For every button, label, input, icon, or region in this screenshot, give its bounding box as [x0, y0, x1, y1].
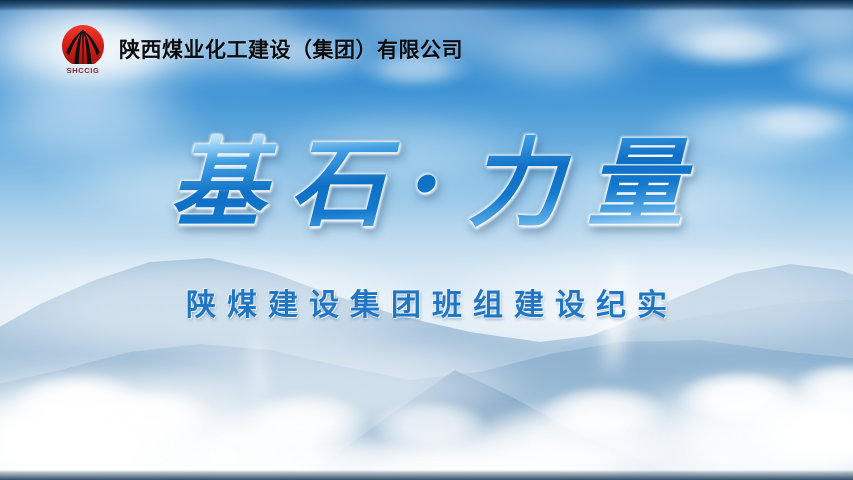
- brand-lockup: SHCCIG 陕西煤业化工建设（集团）有限公司: [60, 24, 463, 74]
- mountain-range: [0, 220, 853, 480]
- logo-mark-svg: [60, 24, 106, 66]
- shccig-flame-logo-icon: SHCCIG: [60, 24, 106, 74]
- company-name: 陕西煤业化工建设（集团）有限公司: [119, 34, 463, 64]
- logo-wordmark: SHCCIG: [60, 67, 106, 75]
- video-title-card: SHCCIG 陕西煤业化工建设（集团）有限公司 基石·力量 陕煤建设集团班组建设…: [0, 0, 853, 480]
